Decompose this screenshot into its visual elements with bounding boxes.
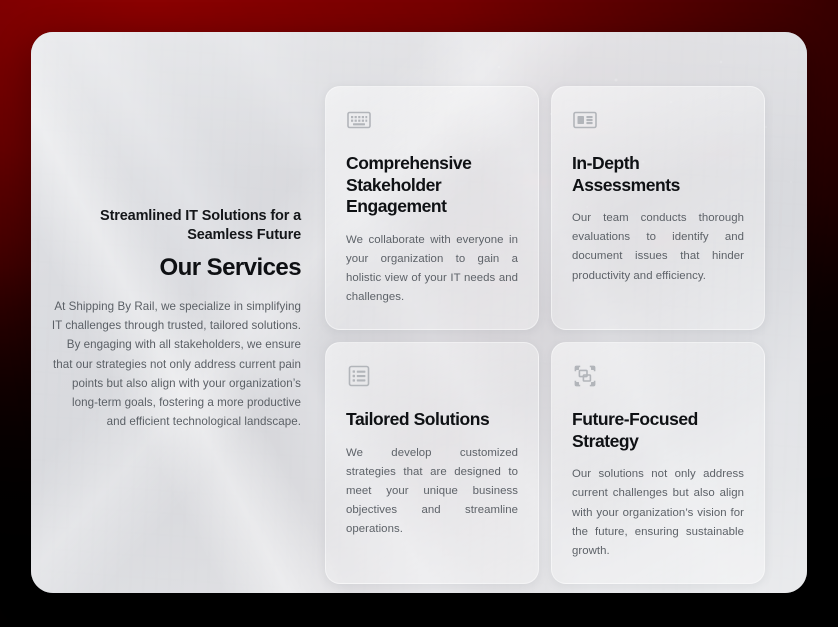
intro-column: Streamlined IT Solutions for a Seamless … [31,32,325,432]
scan-frame-icon [572,363,598,389]
services-panel: Streamlined IT Solutions for a Seamless … [31,32,807,593]
card-title: Future-Focused Strategy [572,409,744,452]
service-card-tailored-solutions[interactable]: Tailored Solutions We develop customized… [325,342,539,584]
card-body: Our team conducts thorough evaluations t… [572,209,744,286]
services-content: Streamlined IT Solutions for a Seamless … [31,32,807,593]
list-view-icon [346,363,372,389]
card-body: Our solutions not only address current c… [572,465,744,561]
service-card-future-focused-strategy[interactable]: Future-Focused Strategy Our solutions no… [551,342,765,584]
service-card-stakeholder-engagement[interactable]: Comprehensive Stakeholder Engagement We … [325,86,539,330]
card-body: We develop customized strategies that ar… [346,444,518,540]
page-title: Our Services [50,254,301,283]
card-body: We collaborate with everyone in your org… [346,231,518,308]
card-title: Comprehensive Stakeholder Engagement [346,153,518,218]
keyboard-icon [346,107,372,133]
card-title: In-Depth Assessments [572,153,744,196]
service-card-grid: Comprehensive Stakeholder Engagement We … [325,32,807,584]
service-card-in-depth-assessments[interactable]: In-Depth Assessments Our team conducts t… [551,86,765,330]
card-title: Tailored Solutions [346,409,518,431]
eyebrow-text: Streamlined IT Solutions for a Seamless … [50,207,301,244]
article-card-icon [572,107,598,133]
intro-paragraph: At Shipping By Rail, we specialize in si… [50,297,301,432]
